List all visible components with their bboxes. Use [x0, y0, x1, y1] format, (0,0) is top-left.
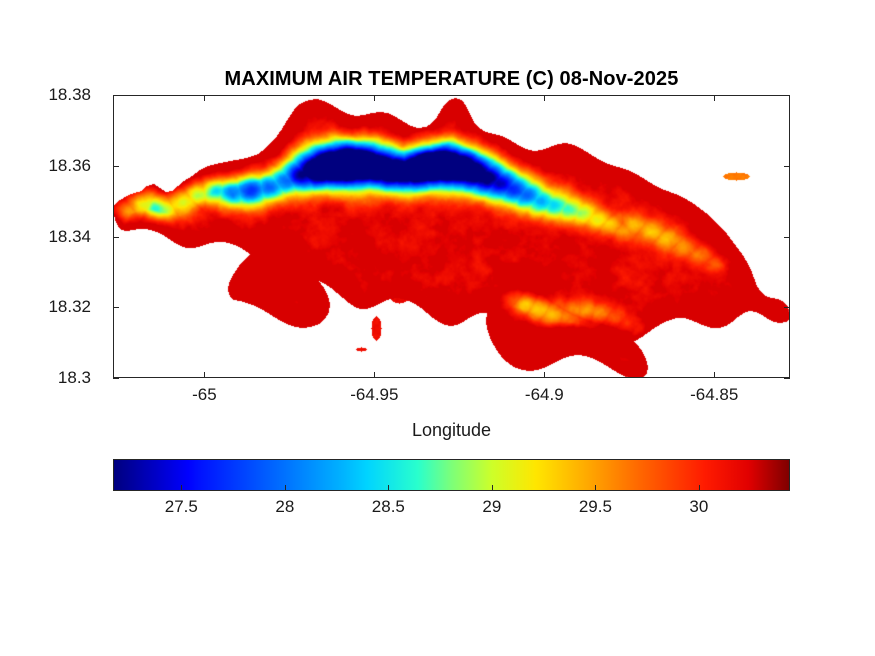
- colorbar-tick-label: 29.5: [579, 497, 612, 517]
- matlab-figure: MAXIMUM AIR TEMPERATURE (C) 08-Nov-2025 …: [0, 0, 875, 656]
- x-tick-label: -65: [192, 385, 217, 405]
- x-tick-top: [374, 95, 375, 101]
- y-tick-right: [784, 166, 790, 167]
- colorbar-tick-label: 29: [482, 497, 501, 517]
- colorbar: [113, 459, 790, 491]
- colorbar-tick: [492, 485, 493, 491]
- colorbar-tick: [181, 485, 182, 491]
- x-tick-label: -64.85: [690, 385, 738, 405]
- x-tick: [204, 372, 205, 378]
- colorbar-tick: [388, 485, 389, 491]
- x-tick: [714, 372, 715, 378]
- y-tick-right: [784, 95, 790, 96]
- colorbar-tick-label: 28: [275, 497, 294, 517]
- y-tick-label: 18.34: [48, 227, 91, 247]
- colorbar-tick: [285, 485, 286, 491]
- page-title: MAXIMUM AIR TEMPERATURE (C) 08-Nov-2025: [113, 68, 790, 91]
- colorbar-tick-label: 28.5: [372, 497, 405, 517]
- colorbar-tick-label: 27.5: [165, 497, 198, 517]
- y-tick: [113, 237, 119, 238]
- x-tick-top: [544, 95, 545, 101]
- x-tick: [544, 372, 545, 378]
- colorbar-gradient: [113, 459, 790, 491]
- y-tick-label: 18.32: [48, 297, 91, 317]
- y-tick-right: [784, 307, 790, 308]
- x-tick-label: -64.95: [350, 385, 398, 405]
- y-tick: [113, 166, 119, 167]
- colorbar-tick-label: 30: [689, 497, 708, 517]
- map-axes: [113, 95, 790, 378]
- y-tick-right: [784, 237, 790, 238]
- temperature-heatmap: [114, 96, 790, 378]
- x-tick-label: -64.9: [525, 385, 564, 405]
- colorbar-tick: [699, 485, 700, 491]
- colorbar-tick: [595, 485, 596, 491]
- axes-box: [113, 95, 790, 378]
- y-tick-label: 18.3: [58, 368, 91, 388]
- x-tick-top: [714, 95, 715, 101]
- y-tick-label: 18.38: [48, 85, 91, 105]
- y-tick-right: [784, 378, 790, 379]
- y-tick-label: 18.36: [48, 156, 91, 176]
- x-axis-label: Longitude: [113, 420, 790, 441]
- x-tick-top: [204, 95, 205, 101]
- y-tick: [113, 307, 119, 308]
- y-tick: [113, 378, 119, 379]
- x-tick: [374, 372, 375, 378]
- y-tick: [113, 95, 119, 96]
